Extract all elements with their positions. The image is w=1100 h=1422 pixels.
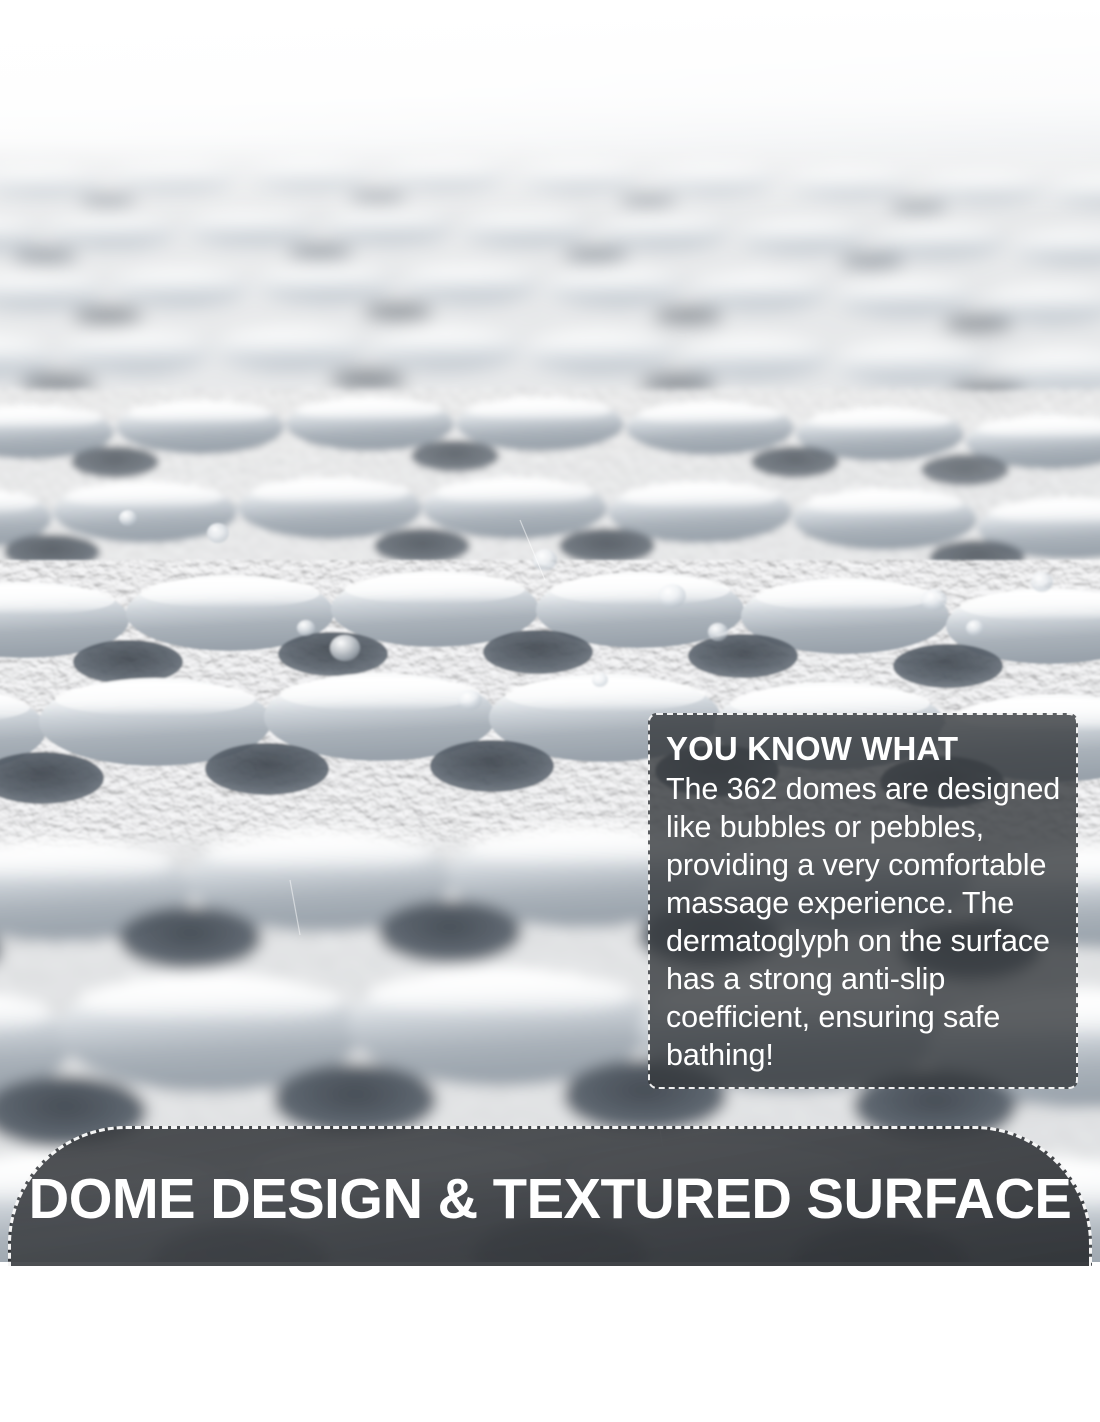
- info-callout-panel: YOU KNOW WHAT The 362 domes are designed…: [648, 713, 1078, 1089]
- banner-title: DOME DESIGN & TEXTURED SURFACE: [19, 1129, 1081, 1266]
- info-panel-heading: YOU KNOW WHAT: [666, 730, 1066, 768]
- bottom-feature-banner: DOME DESIGN & TEXTURED SURFACE: [8, 1126, 1092, 1266]
- product-feature-image: YOU KNOW WHAT The 362 domes are designed…: [0, 0, 1100, 1422]
- photo-top-highlight: [0, 0, 1100, 215]
- info-panel-body-text: The 362 domes are designed like bubbles …: [666, 770, 1066, 1074]
